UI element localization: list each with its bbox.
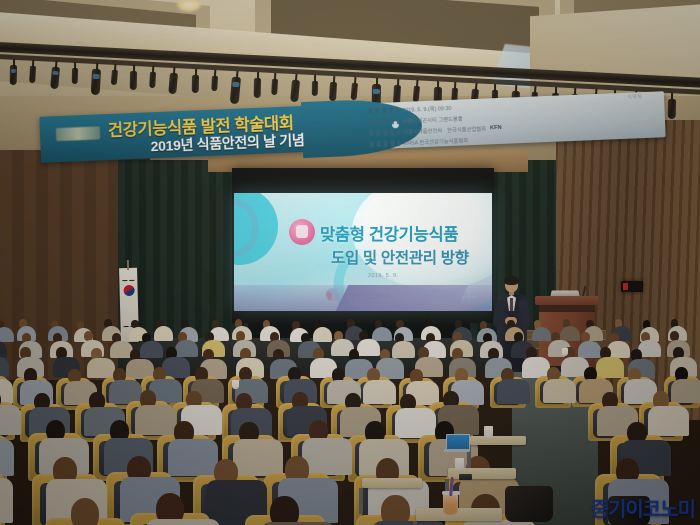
audience-shoulders — [302, 438, 352, 475]
audience-shoulders — [560, 326, 579, 340]
audience-shoulders — [648, 406, 688, 436]
audience-member — [332, 368, 345, 407]
audience-shoulders — [357, 339, 380, 356]
supplement-capsule-icon — [289, 219, 315, 245]
audience-member — [600, 347, 611, 379]
audience-shoulders — [168, 439, 218, 476]
audience-member — [309, 420, 328, 478]
audience-member — [0, 391, 1, 439]
audience-member — [602, 392, 618, 440]
floor-bag — [505, 486, 553, 522]
audience-member — [395, 333, 404, 360]
banner-row-marker — [369, 129, 399, 136]
audience-member — [156, 320, 164, 343]
audience-member — [375, 320, 383, 343]
audience-member — [178, 332, 187, 359]
audience-member — [334, 331, 343, 358]
audience-shoulders — [135, 405, 175, 435]
stage-spotlight — [29, 66, 36, 83]
banner-row-marker — [370, 140, 400, 147]
audience-shoulders — [175, 340, 198, 357]
banner-host-logo — [56, 126, 100, 141]
audience-head — [270, 496, 299, 525]
stage-spotlight — [254, 78, 261, 98]
stage-spotlight — [312, 81, 318, 96]
stage-spotlight — [192, 74, 199, 92]
slide-bottom-band — [234, 285, 492, 311]
audience-member — [581, 332, 590, 359]
audience-member — [71, 498, 100, 525]
audience-shoulders — [0, 379, 13, 403]
banner-row-text: KHSA 한국건강기능식품협회 — [404, 137, 469, 147]
audience-shoulders — [532, 327, 551, 341]
audience-member — [270, 496, 299, 525]
stage-spotlight — [10, 65, 17, 85]
banner-row-text: 식품의약품안전처 · 한국식품산업협회 — [403, 125, 486, 135]
audience-member — [292, 321, 300, 344]
audience-member — [381, 495, 410, 525]
audience-shoulders — [671, 379, 700, 403]
audience-shoulders — [578, 341, 601, 358]
stage-spotlight — [271, 78, 278, 94]
audience-shoulders — [497, 379, 530, 403]
audience-member — [514, 332, 523, 359]
audience-member — [628, 368, 641, 407]
paper-cup — [484, 426, 493, 438]
audience-shoulders — [0, 341, 7, 358]
audience-shoulders — [87, 358, 115, 378]
audience-member — [91, 348, 102, 380]
banner-row-text: 서울드래곤시티 그랜드볼룸 — [403, 115, 463, 124]
audience-member — [610, 333, 619, 360]
audience-member — [675, 367, 688, 406]
audience-shoulders — [596, 357, 624, 377]
audience-member — [563, 319, 571, 342]
audience-shoulders — [0, 439, 14, 476]
publisher-watermark: 중기이코노미 — [591, 493, 695, 522]
banner-row-text: 2019. 5. 9.(목) 09:30 — [402, 104, 451, 113]
projection-screen: 맞춤형 건강기능식품 도입 및 안전관리 방향 2019. 5. 9. 식품의약… — [234, 193, 492, 311]
audience-member — [641, 332, 650, 359]
audience-shoulders — [162, 357, 190, 377]
audience-member — [349, 349, 360, 381]
audience-shoulders — [0, 478, 13, 523]
audience-member — [347, 319, 355, 342]
audience-shoulders — [543, 379, 576, 403]
audience-shoulders — [0, 357, 9, 377]
audience-head — [71, 498, 100, 525]
stage-spotlight — [211, 75, 218, 90]
slide-title-line1: 맞춤형 건강기능식품 — [320, 221, 458, 245]
audience-member — [104, 319, 112, 342]
audience-shoulders — [233, 439, 283, 476]
stage-spotlight — [91, 69, 101, 95]
audience-member — [0, 321, 4, 344]
audience-shoulders — [624, 379, 657, 403]
audience-member — [313, 348, 324, 380]
audience-shoulders — [154, 326, 173, 340]
audience-member — [166, 347, 177, 379]
audience-member — [315, 320, 323, 343]
audience-member — [584, 367, 597, 406]
audience-member — [301, 333, 310, 360]
audience-member — [547, 367, 560, 406]
audience-member — [89, 392, 105, 440]
audience-shoulders — [146, 519, 220, 525]
audience-member — [359, 331, 368, 358]
audience-member — [131, 320, 139, 343]
audience-member — [345, 393, 361, 441]
audience-member — [501, 368, 514, 407]
paper-cup — [455, 458, 464, 470]
audience-member — [156, 493, 185, 525]
audience-member — [488, 348, 499, 380]
slide-date: 2019. 5. 9. — [368, 273, 398, 279]
stage-spotlight — [668, 99, 676, 119]
iced-coffee-cup — [443, 494, 458, 515]
audience-member — [56, 347, 67, 379]
audience-shoulders — [372, 521, 446, 525]
audience-shoulders — [313, 327, 332, 341]
folding-desk-tablet — [470, 436, 526, 445]
audience-member — [140, 390, 156, 438]
audience-member — [214, 459, 238, 525]
slide-cyan-circle — [234, 193, 278, 265]
audience-member — [367, 368, 380, 407]
slide-title-line2: 도입 및 안전관리 방향 — [331, 246, 469, 268]
audience-member — [68, 369, 81, 408]
audience-member — [113, 368, 126, 407]
emergency-exit-sign — [621, 281, 643, 292]
audience-shoulders — [395, 408, 435, 438]
audience-shoulders — [0, 405, 21, 435]
smartphone — [459, 474, 472, 480]
audience-member — [239, 422, 258, 480]
folding-desk-tablet — [416, 508, 502, 521]
audience-member — [534, 320, 542, 343]
audience-member — [400, 394, 416, 442]
stage-spotlight — [130, 71, 137, 90]
audience-member — [653, 391, 669, 439]
audience-shoulders — [363, 380, 396, 404]
paper-cup — [562, 348, 568, 356]
audience-shoulders — [372, 327, 391, 341]
audience-shoulders — [392, 341, 415, 358]
audience-member — [174, 421, 193, 479]
folding-desk-tablet — [362, 478, 422, 488]
audience-member — [112, 333, 121, 360]
audience-member — [551, 332, 560, 359]
stage-spotlight — [149, 72, 156, 88]
paper-cup — [232, 380, 239, 389]
audience-member — [526, 347, 537, 379]
audience-member — [292, 392, 308, 440]
stage-spotlight — [329, 81, 337, 100]
audience-member — [142, 333, 151, 360]
audience-shoulders — [0, 327, 14, 341]
conference-photo: 맞춤형 건강기능식품 도입 및 안전관리 방향 2019. 5. 9. 식품의약… — [0, 0, 700, 525]
stage-spotlight — [72, 68, 78, 84]
banner-row-brand: KFN — [490, 125, 502, 131]
banner-row-marker — [368, 107, 398, 114]
open-laptop — [444, 434, 470, 452]
audience-shoulders — [140, 341, 163, 358]
banner-row-marker — [369, 118, 399, 125]
